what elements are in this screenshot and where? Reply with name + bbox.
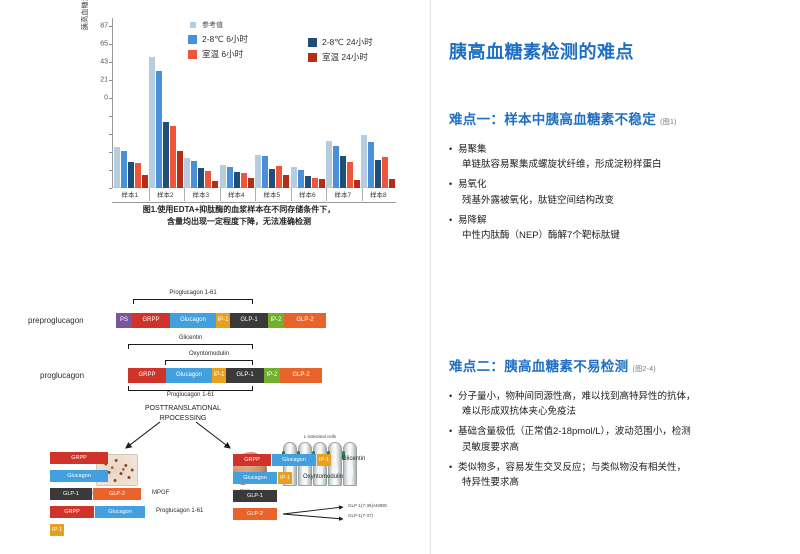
bar <box>227 167 233 188</box>
section-2-bullet-detail: 特异性要求高 <box>449 475 789 490</box>
arrow-note-glp1-7-36-amide: GLP-1(7-36)AMIDE <box>348 503 387 508</box>
bar <box>114 147 120 188</box>
bar <box>361 135 367 188</box>
segment-ps: PS <box>116 313 132 328</box>
bar <box>262 156 268 188</box>
bar-group <box>255 18 290 188</box>
section-difficulty-two: 难点二：胰高血糖素不易检测 (图2-4) •分子量小，物种间同源性高，难以找到高… <box>449 355 789 495</box>
bar <box>205 171 211 188</box>
bar <box>170 126 176 188</box>
legend-swatch-icon <box>308 53 317 62</box>
x-axis-label: 样本3 <box>183 189 219 202</box>
x-axis-label: 样本2 <box>148 189 184 202</box>
segment-glp-2: GLP-2 <box>280 368 322 383</box>
x-axis-label: 样本4 <box>219 189 255 202</box>
legend-item: 室温 6小时 <box>188 48 248 60</box>
section-1-bullet-detail: 残基外露被氧化，肽链空间结构改变 <box>449 193 789 208</box>
bar <box>149 57 155 188</box>
bar <box>156 71 162 188</box>
proglucagon-processing-diagram: preproglucagon Proglucagon 1-61 PSGRPPGl… <box>28 292 428 550</box>
diagram-row-label-preproglucagon: preproglucagon <box>28 316 84 325</box>
bar <box>128 162 134 188</box>
bracket-label-oxyntomodulin: Oxyntomodulin <box>165 351 253 357</box>
bar <box>241 173 247 188</box>
legend-label: 2-8℃ 24小时 <box>322 36 373 48</box>
x-axis-label: 样本6 <box>290 189 326 202</box>
product-block-grpp: GRPP <box>233 454 271 466</box>
page-title: 胰高血糖素检测的难点 <box>449 38 634 64</box>
segment-grpp: GRPP <box>128 368 166 383</box>
bullet-dot-icon: • <box>449 213 458 228</box>
bullet-dot-icon: • <box>449 177 458 192</box>
product-block-glucagon: Glucagon <box>50 470 108 482</box>
product-block-glp-2: GLP-2 <box>93 488 141 500</box>
y-tick-label: 43 <box>100 59 108 66</box>
bar <box>312 178 318 188</box>
bar <box>234 172 240 188</box>
product-block-ip-1: IP-1 <box>317 454 331 466</box>
section-2-heading-text: 难点二：胰高血糖素不易检测 <box>449 359 628 374</box>
section-1-bullet-item: •易降解中性内肽酶（NEP）酶解7个靶标肽键 <box>449 213 789 243</box>
preproglucagon-segments: PSGRPPGlucagonIP-1GLP-1IP-2GLP-2 <box>116 313 326 328</box>
pancreatic-product-row: GRPPGlucagonProglucagon 1-61 <box>50 506 230 521</box>
bar <box>276 166 282 188</box>
bullet-dot-icon: • <box>449 389 458 404</box>
bar <box>375 160 381 188</box>
legend-swatch-icon <box>308 38 317 47</box>
bar <box>198 168 204 188</box>
bracket-oxyntomodulin <box>165 360 253 365</box>
bracket-proglucagon-1-61-bottom <box>128 386 253 391</box>
legend-column-right: 2-8℃ 24小时室温 24小时 <box>308 36 373 66</box>
proglucagon-segments: GRPPGlucagonIP-1GLP-1IP-2GLP-2 <box>128 368 326 383</box>
section-2-bullet-detail: 灵敏度要求高 <box>449 440 789 455</box>
pancreatic-product-row: Glucagon <box>50 470 230 485</box>
chart-caption-line-1: 图1.使用EDTA+抑肽酶的血浆样本在不同存储条件下， <box>74 204 404 216</box>
y-tick-label: 87 <box>100 23 108 30</box>
section-2-heading-ref: (图2-4) <box>632 366 656 373</box>
pancreatic-products-list: GRPPGlucagonGLP-1GLP-2MPGFGRPPGlucagonPr… <box>50 452 230 542</box>
intestinal-product-row: GRPPGlucagonIP-1Glicentin <box>233 454 433 469</box>
section-1-bullet-detail: 单链肽容易聚集成螺旋状纤维，形成淀粉样蛋白 <box>449 157 789 172</box>
chart-caption: 图1.使用EDTA+抑肽酶的血浆样本在不同存储条件下， 含量均出现一定程度下降，… <box>74 204 404 229</box>
bar <box>283 175 289 188</box>
bar <box>269 169 275 188</box>
legend-item: 参考值 <box>188 20 248 30</box>
product-block-ip-1: IP-1 <box>50 524 64 536</box>
section-2-bullet-title: 类似物多，容易发生交叉反应；与类似物没有相关性， <box>458 460 789 475</box>
bar <box>347 162 353 188</box>
segment-ip-2: IP-2 <box>268 313 284 328</box>
section-difficulty-one: 难点一：样本中胰高血糖素不稳定 (图1) •易聚集单链肽容易聚集成螺旋状纤维，形… <box>449 108 789 248</box>
processing-line-1: POSTTRANSLATIONAL <box>118 404 248 414</box>
bar-group <box>113 18 148 188</box>
bar <box>291 167 297 188</box>
y-tick-label: 21 <box>100 77 108 84</box>
section-1-bullet-list: •易聚集单链肽容易聚集成螺旋状纤维，形成淀粉样蛋白•易氧化残基外露被氧化，肽链空… <box>449 142 789 243</box>
legend-label: 2-8℃ 6小时 <box>202 33 248 45</box>
bracket-label-glicentin: Glicentin <box>128 335 253 341</box>
intestinal-product-row: GlucagonIP-1Oxyntomodulin <box>233 472 433 487</box>
section-1-bullet-title: 易氧化 <box>458 177 789 192</box>
product-note: Oxyntomodulin <box>303 474 343 480</box>
bar <box>389 179 395 188</box>
legend-label: 参考值 <box>202 20 223 30</box>
section-1-bullet-title: 易聚集 <box>458 142 789 157</box>
section-1-bullet-title: 易降解 <box>458 213 789 228</box>
x-axis-labels: 样本1样本2样本3样本4样本5样本6样本7样本8 <box>112 189 396 203</box>
x-axis-label: 样本7 <box>325 189 361 202</box>
legend-column-left: 参考值2-8℃ 6小时室温 6小时 <box>188 20 248 63</box>
segment-grpp: GRPP <box>132 313 170 328</box>
bar <box>340 156 346 188</box>
product-block-ip-1: IP-1 <box>278 472 292 484</box>
segment-glucagon: Glucagon <box>166 368 212 383</box>
chart-caption-line-2: 含量均出现一定程度下降，无法准确检测 <box>74 216 404 228</box>
bar-group <box>148 18 183 188</box>
x-axis-label: 样本8 <box>361 189 397 202</box>
product-note: Glicentin <box>342 456 365 462</box>
product-block-glp-2: GLP-2 <box>233 508 277 520</box>
intestinal-product-row: GLP-1 <box>233 490 433 505</box>
product-note: MPGF <box>152 490 169 496</box>
right-column: 胰高血糖素检测的难点 难点一：样本中胰高血糖素不稳定 (图1) •易聚集单链肽容… <box>430 0 800 554</box>
bar <box>298 170 304 188</box>
slide-root: 胰高血糖素pmol/L 876543210 样本1样本2样本3样本4样本5样本6… <box>0 0 800 554</box>
diagram-row-label-proglucagon: proglucagon <box>40 371 84 380</box>
y-axis-ticks: 876543210 <box>88 18 112 188</box>
legend-item: 2-8℃ 24小时 <box>308 36 373 48</box>
bar <box>212 181 218 188</box>
bar <box>220 165 226 188</box>
pancreatic-product-row: IP-1 <box>50 524 230 539</box>
bar <box>142 175 148 188</box>
legend-swatch-icon <box>188 35 197 44</box>
bar <box>326 141 332 188</box>
bullet-dot-icon: • <box>449 424 458 439</box>
y-tick-label: 0 <box>104 95 108 102</box>
bracket-label-proglucagon-1-61-top: Proglucagon 1-61 <box>133 290 253 296</box>
legend-label: 室温 24小时 <box>322 51 368 63</box>
pancreatic-product-row: GRPP <box>50 452 230 467</box>
arrow-note-glp1-7-37: GLP-1(7-37) <box>348 513 373 518</box>
bracket-glicentin <box>128 344 253 349</box>
segment-glucagon: Glucagon <box>170 313 216 328</box>
pancreatic-product-row: GLP-1GLP-2MPGF <box>50 488 230 503</box>
legend-item: 2-8℃ 6小时 <box>188 33 248 45</box>
section-1-bullet-item: •易氧化残基外露被氧化，肽链空间结构改变 <box>449 177 789 207</box>
bar <box>319 179 325 188</box>
product-block-glucagon: Glucagon <box>95 506 145 518</box>
legend-label: 室温 6小时 <box>202 48 243 60</box>
segment-ip-2: IP-2 <box>264 368 280 383</box>
product-block-glp-1: GLP-1 <box>50 488 92 500</box>
x-axis-label: 样本1 <box>112 189 148 202</box>
section-1-bullet-detail: 中性内肽酶（NEP）酶解7个靶标肽键 <box>449 228 789 243</box>
bar <box>354 180 360 188</box>
caption-l-intestinal-cells: L-intestinal cells <box>304 434 336 439</box>
section-2-bullet-item: •基础含量极低（正常值2-18pmol/L），波动范围小，检测灵敏度要求高 <box>449 424 789 454</box>
bar <box>248 178 254 188</box>
bullet-dot-icon: • <box>449 142 458 157</box>
bar <box>184 158 190 188</box>
section-2-bullet-title: 基础含量极低（正常值2-18pmol/L），波动范围小，检测 <box>458 424 789 439</box>
bar <box>163 122 169 188</box>
section-2-bullet-list: •分子量小，物种间同源性高，难以找到高特异性的抗体，难以形成双抗体夹心免疫法•基… <box>449 389 789 490</box>
bar <box>191 161 197 188</box>
legend-swatch-icon <box>188 50 197 59</box>
section-1-heading: 难点一：样本中胰高血糖素不稳定 (图1) <box>449 108 789 128</box>
bar <box>121 151 127 188</box>
product-block-glp-1: GLP-1 <box>233 490 277 502</box>
product-block-grpp: GRPP <box>50 506 94 518</box>
bullet-dot-icon: • <box>449 460 458 475</box>
product-note: Proglucagon 1-61 <box>156 508 203 514</box>
section-1-bullet-item: •易聚集单链肽容易聚集成螺旋状纤维，形成淀粉样蛋白 <box>449 142 789 172</box>
bar <box>255 155 261 188</box>
section-1-heading-ref: (图1) <box>660 119 677 126</box>
segment-glp-2: GLP-2 <box>284 313 326 328</box>
segment-ip-1: IP-1 <box>212 368 226 383</box>
bar <box>382 157 388 188</box>
section-2-bullet-item: •类似物多，容易发生交叉反应；与类似物没有相关性，特异性要求高 <box>449 460 789 490</box>
section-2-heading: 难点二：胰高血糖素不易检测 (图2-4) <box>449 355 789 375</box>
x-axis-label: 样本5 <box>254 189 290 202</box>
bar <box>177 151 183 188</box>
section-2-bullet-title: 分子量小，物种间同源性高，难以找到高特异性的抗体， <box>458 389 789 404</box>
product-block-glucagon: Glucagon <box>233 472 277 484</box>
segment-ip-1: IP-1 <box>216 313 230 328</box>
bracket-proglucagon-1-61-top <box>133 299 253 304</box>
legend-item: 室温 24小时 <box>308 51 373 63</box>
bar <box>333 146 339 188</box>
bar <box>135 163 141 188</box>
bracket-label-proglucagon-1-61-bottom: Proglucagon 1-61 <box>128 392 253 398</box>
bar <box>305 176 311 188</box>
segment-glp-1: GLP-1 <box>230 313 268 328</box>
section-1-heading-text: 难点一：样本中胰高血糖素不稳定 <box>449 112 656 127</box>
product-block-glucagon: Glucagon <box>272 454 316 466</box>
glucagon-stability-chart: 胰高血糖素pmol/L 876543210 样本1样本2样本3样本4样本5样本6… <box>60 12 410 257</box>
y-tick-label: 65 <box>100 41 108 48</box>
left-column: 胰高血糖素pmol/L 876543210 样本1样本2样本3样本4样本5样本6… <box>0 0 430 554</box>
section-2-bullet-detail: 难以形成双抗体夹心免疫法 <box>449 404 789 419</box>
segment-glp-1: GLP-1 <box>226 368 264 383</box>
bar <box>368 142 374 188</box>
section-2-bullet-item: •分子量小，物种间同源性高，难以找到高特异性的抗体，难以形成双抗体夹心免疫法 <box>449 389 789 419</box>
product-block-grpp: GRPP <box>50 452 108 464</box>
legend-swatch-icon <box>190 22 196 28</box>
